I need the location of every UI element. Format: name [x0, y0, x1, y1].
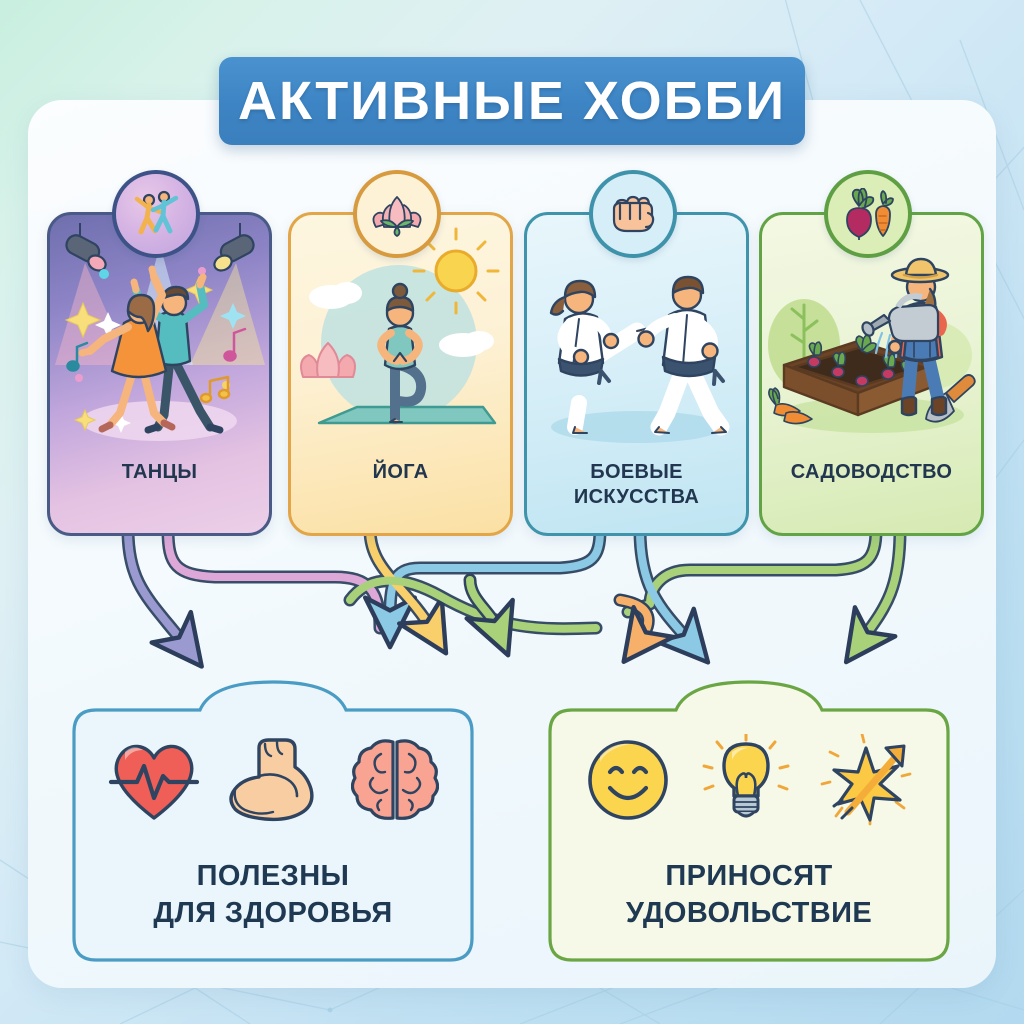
- star-burst-arrow-icon: [820, 734, 914, 826]
- benefit-pleasure-line2: УДОВОЛЬСТВИЕ: [548, 895, 950, 932]
- benefit-box-health[interactable]: ПОЛЕЗНЫ ДЛЯ ЗДОРОВЬЯ: [72, 680, 474, 962]
- benefit-health-icons: [72, 720, 474, 840]
- card-label-dancing: ТАНЦЫ: [50, 460, 269, 485]
- brain-icon: [351, 736, 439, 824]
- card-label-martial-arts: БОЕВЫЕ ИСКУССТВА: [527, 460, 746, 510]
- dancing-couple-icon: [128, 186, 184, 242]
- benefit-pleasure-icons: [548, 720, 950, 840]
- card-dancing[interactable]: ТАНЦЫ: [47, 212, 272, 536]
- benefit-health-line2: ДЛЯ ЗДОРОВЬЯ: [72, 895, 474, 932]
- infographic-root: АКТИВНЫЕ ХОББИ: [0, 0, 1024, 1024]
- lightbulb-icon: [700, 734, 792, 826]
- fist-icon: [607, 189, 659, 239]
- badge-gardening[interactable]: [824, 170, 912, 258]
- flexed-bicep-icon: [229, 736, 323, 824]
- badge-yoga[interactable]: [353, 170, 441, 258]
- badge-dancing[interactable]: [112, 170, 200, 258]
- benefit-health-text: ПОЛЕЗНЫ ДЛЯ ЗДОРОВЬЯ: [72, 858, 474, 932]
- card-martial-arts[interactable]: БОЕВЫЕ ИСКУССТВА: [524, 212, 749, 536]
- card-yoga[interactable]: ЙОГА: [288, 212, 513, 536]
- badge-martial-arts[interactable]: [589, 170, 677, 258]
- card-gardening[interactable]: САДОВОДСТВО: [759, 212, 984, 536]
- benefit-pleasure-text: ПРИНОСЯТ УДОВОЛЬСТВИЕ: [548, 858, 950, 932]
- lotus-flower-icon: [368, 189, 426, 239]
- card-label-yoga: ЙОГА: [291, 460, 510, 485]
- benefit-box-pleasure[interactable]: ПРИНОСЯТ УДОВОЛЬСТВИЕ: [548, 680, 950, 962]
- smiley-face-icon: [584, 736, 672, 824]
- beet-and-carrot-icon: [839, 188, 897, 240]
- benefit-pleasure-line1: ПРИНОСЯТ: [548, 858, 950, 895]
- heart-pulse-icon: [107, 736, 201, 824]
- benefit-health-line1: ПОЛЕЗНЫ: [72, 858, 474, 895]
- card-label-gardening: САДОВОДСТВО: [762, 460, 981, 485]
